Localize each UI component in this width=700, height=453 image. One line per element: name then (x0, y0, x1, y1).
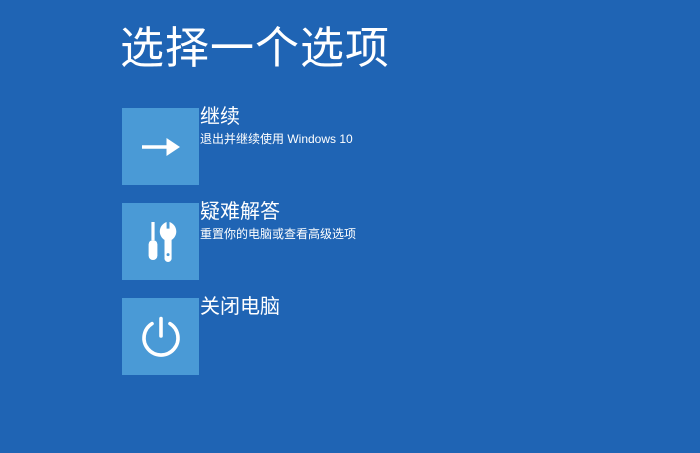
option-continue-subtitle: 退出并继续使用 Windows 10 (200, 131, 353, 147)
choose-an-option-screen: 选择一个选项 继续 退出并继续使用 Windows 10 (0, 0, 700, 453)
option-troubleshoot-tile[interactable] (122, 203, 199, 280)
option-continue-title: 继续 (200, 105, 353, 129)
options-list: 继续 退出并继续使用 Windows 10 (122, 108, 642, 393)
option-turn-off-pc-text: 关闭电脑 (200, 295, 280, 319)
option-troubleshoot[interactable]: 疑难解答 重置你的电脑或查看高级选项 (122, 203, 642, 280)
option-troubleshoot-subtitle: 重置你的电脑或查看高级选项 (200, 226, 356, 242)
screwdriver-wrench-icon (140, 220, 182, 264)
option-turn-off-pc-title: 关闭电脑 (200, 295, 280, 319)
arrow-right-icon (138, 128, 184, 166)
power-icon (138, 314, 184, 360)
option-continue-text: 继续 退出并继续使用 Windows 10 (200, 105, 353, 147)
option-troubleshoot-text: 疑难解答 重置你的电脑或查看高级选项 (200, 200, 356, 242)
option-continue-tile[interactable] (122, 108, 199, 185)
page-title: 选择一个选项 (120, 22, 390, 76)
option-continue[interactable]: 继续 退出并继续使用 Windows 10 (122, 108, 642, 185)
option-troubleshoot-title: 疑难解答 (200, 200, 356, 224)
option-turn-off-pc[interactable]: 关闭电脑 (122, 298, 642, 375)
option-turn-off-pc-tile[interactable] (122, 298, 199, 375)
